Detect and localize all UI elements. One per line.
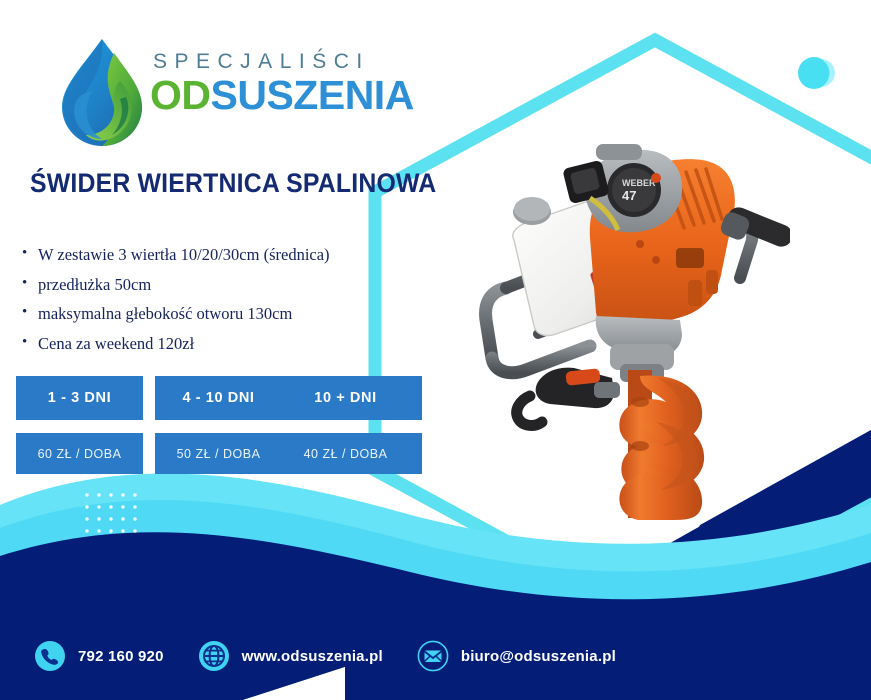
contact-email-label: biuro@odsuszenia.pl: [461, 648, 616, 665]
contact-phone[interactable]: 792 160 920: [34, 640, 164, 672]
brand-logo: SPECJALIŚCI ODSUSZENIA: [52, 35, 422, 150]
contact-website[interactable]: www.odsuszenia.pl: [198, 640, 383, 672]
page-title: ŚWIDER WIERTNICA SPALINOWA: [30, 168, 436, 199]
contact-phone-label: 792 160 920: [78, 648, 164, 665]
globe-icon: [198, 640, 230, 672]
water-droplet-logo-icon: [52, 35, 152, 150]
contact-email[interactable]: biuro@odsuszenia.pl: [417, 640, 616, 672]
list-item: W zestawie 3 wiertła 10/20/30cm (średnic…: [22, 247, 422, 264]
pricing-period: 4 - 10 DNI: [155, 376, 282, 420]
svg-text:WEBER: WEBER: [622, 178, 656, 188]
pricing-rate: 40 ZŁ / DOBA: [269, 433, 422, 474]
front-handle: [517, 368, 620, 426]
pricing-column: 4 - 10 DNI 50 ZŁ / DOBA: [155, 376, 282, 474]
envelope-icon: [417, 640, 449, 672]
pricing-rate: 50 ZŁ / DOBA: [155, 433, 282, 474]
footer-contacts: 792 160 920 www.odsuszenia.pl biuro@odsu…: [34, 637, 650, 675]
brand-name-od: OD: [150, 72, 211, 118]
phone-icon: [34, 640, 66, 672]
svg-text:47: 47: [622, 188, 636, 203]
pricing-period: 10 + DNI: [269, 376, 422, 420]
feature-list: W zestawie 3 wiertła 10/20/30cm (średnic…: [22, 247, 422, 365]
pricing-column: 1 - 3 DNI 60 ZŁ / DOBA: [16, 376, 143, 474]
brand-wordmark: SPECJALIŚCI ODSUSZENIA: [150, 51, 430, 117]
auger-bit: [619, 370, 704, 520]
pricing-period: 1 - 3 DNI: [16, 376, 143, 420]
list-item: Cena za weekend 120zł: [22, 336, 422, 353]
brand-name: ODSUSZENIA: [150, 74, 430, 117]
list-item: przedłużka 50cm: [22, 277, 422, 294]
list-item: maksymalna głebokość otworu 130cm: [22, 306, 422, 323]
petrol-earth-auger-drill: WEBER 47: [470, 120, 790, 520]
contact-website-label: www.odsuszenia.pl: [242, 648, 383, 665]
brand-name-suszenia: SUSZENIA: [211, 72, 414, 118]
poster-canvas: SPECJALIŚCI ODSUSZENIA ŚWIDER WIERTNICA …: [0, 0, 871, 700]
dot-grid-pattern: [78, 486, 140, 536]
pricing-rate: 60 ZŁ / DOBA: [16, 433, 143, 474]
pricing-column: 10 + DNI 40 ZŁ / DOBA: [269, 376, 422, 474]
brand-tagline: SPECJALIŚCI: [153, 51, 430, 72]
